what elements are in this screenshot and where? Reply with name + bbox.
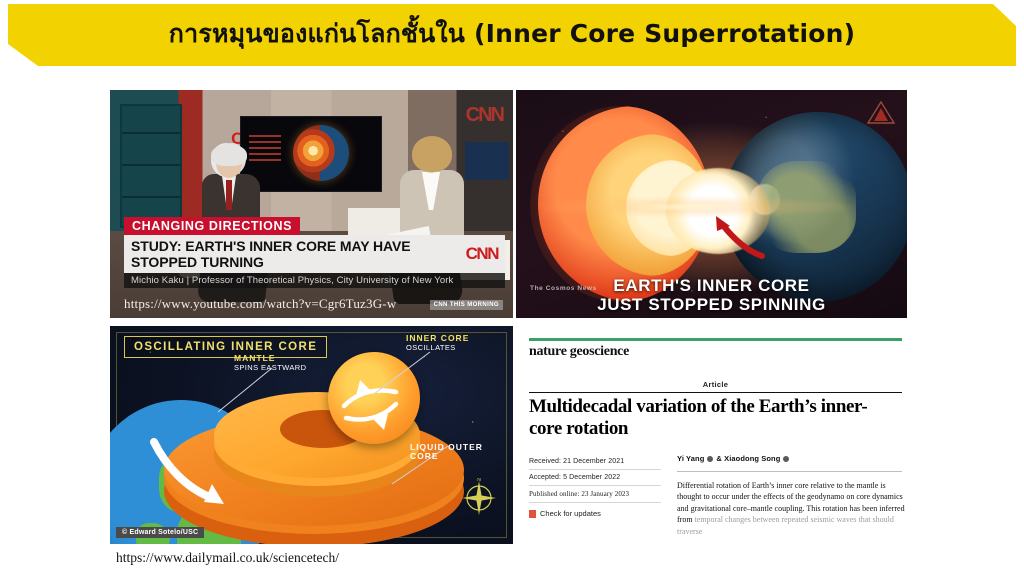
label-mantle-title: MANTLE: [234, 354, 306, 363]
cnn-kicker: CHANGING DIRECTIONS: [124, 217, 300, 235]
cnn-lower-third: CHANGING DIRECTIONS STUDY: EARTH'S INNER…: [124, 217, 505, 288]
journal-rule: [529, 338, 902, 341]
label-liquid-outer-core-title: LIQUID OUTER CORE: [410, 443, 513, 461]
dailymail-infographic: OSCILLATING INNER CORE: [110, 326, 513, 544]
author-one: Yi Yang: [677, 454, 704, 463]
label-mantle-sub: SPINS EASTWARD: [234, 363, 306, 372]
mantle-leader-line: [214, 366, 276, 414]
earth-cutaway-graphic: [293, 125, 349, 181]
cnn-subline: Michio Kaku | Professor of Theoretical P…: [124, 273, 505, 288]
label-liquid-outer-core: LIQUID OUTER CORE: [410, 443, 513, 461]
cnn-wall-logo-secondary: CNN: [466, 104, 503, 127]
svg-text:N: N: [477, 478, 481, 483]
paper-metadata: Received: 21 December 2021 Accepted: 5 D…: [529, 454, 661, 518]
red-arrow-icon: [706, 212, 766, 260]
triangle-logo-icon: [867, 100, 895, 125]
meta-received: Received: 21 December 2021: [529, 454, 661, 470]
authors-divider: [677, 471, 902, 472]
title-divider: [529, 392, 902, 393]
article-type-label: Article: [519, 380, 912, 389]
diagram-credit: © Edward Sotelo/USC: [116, 527, 204, 538]
label-inner-core-title: INNER CORE: [406, 334, 469, 343]
cosmos-caption-line1: EARTH'S INNER CORE: [516, 276, 907, 295]
crossmark-icon: [529, 510, 536, 518]
author-two: & Xiaodong Song: [716, 454, 780, 463]
abstract-line-4: temporal changes between repeated seismi…: [677, 515, 894, 535]
compass-rose-icon: N: [459, 478, 499, 518]
nature-geoscience-paper: nature geoscience Article Multidecadal v…: [519, 330, 912, 545]
studio-shelf: [120, 104, 182, 228]
cnn-logo: CNN: [460, 244, 498, 264]
cosmos-news-image: The Cosmos News EARTH'S INNER CORE JUST …: [516, 90, 907, 318]
youtube-source-url: https://www.youtube.com/watch?v=Cgr6Tuz3…: [124, 296, 396, 312]
meta-accepted: Accepted: 5 December 2022: [529, 470, 661, 486]
label-inner-core: INNER CORE OSCILLATES: [406, 334, 469, 352]
orcid-icon[interactable]: [783, 456, 789, 462]
inner-core-leader-line: [368, 350, 434, 398]
paper-abstract: Differential rotation of Earth’s inner c…: [677, 480, 905, 537]
studio-monitor: [465, 142, 509, 180]
slide-title-banner: การหมุนของแก่นโลกชั้นใน (Inner Core Supe…: [8, 4, 1016, 66]
paper-title: Multidecadal variation of the Earth’s in…: [529, 396, 869, 440]
paper-authors: Yi Yang & Xiaodong Song: [677, 454, 902, 463]
cnn-headline-bar: STUDY: EARTH'S INNER CORE MAY HAVE STOPP…: [124, 235, 505, 273]
mantle-rotation-arrow-icon: [146, 436, 232, 510]
orcid-icon[interactable]: [707, 456, 713, 462]
cnn-headline: STUDY: EARTH'S INNER CORE MAY HAVE STOPP…: [131, 238, 460, 270]
dailymail-source-url: https://www.dailymail.co.uk/sciencetech/: [116, 550, 339, 566]
cnn-program-badge: CNN THIS MORNING: [430, 300, 503, 310]
meta-published: Published online: 23 January 2023: [529, 486, 661, 503]
journal-masthead: nature geoscience: [529, 344, 629, 360]
label-inner-core-sub: OSCILLATES: [406, 343, 456, 352]
cosmos-caption: EARTH'S INNER CORE JUST STOPPED SPINNING: [516, 276, 907, 314]
label-mantle: MANTLE SPINS EASTWARD: [234, 354, 306, 372]
slide-canvas: การหมุนของแก่นโลกชั้นใน (Inner Core Supe…: [0, 0, 1024, 576]
check-for-updates-label: Check for updates: [540, 509, 601, 518]
page-title: การหมุนของแก่นโลกชั้นใน (Inner Core Supe…: [169, 14, 856, 54]
cosmos-caption-line2: JUST STOPPED SPINNING: [516, 295, 907, 314]
check-for-updates[interactable]: Check for updates: [529, 503, 661, 518]
cnn-interview-image: CNN CNN C: [110, 90, 513, 318]
